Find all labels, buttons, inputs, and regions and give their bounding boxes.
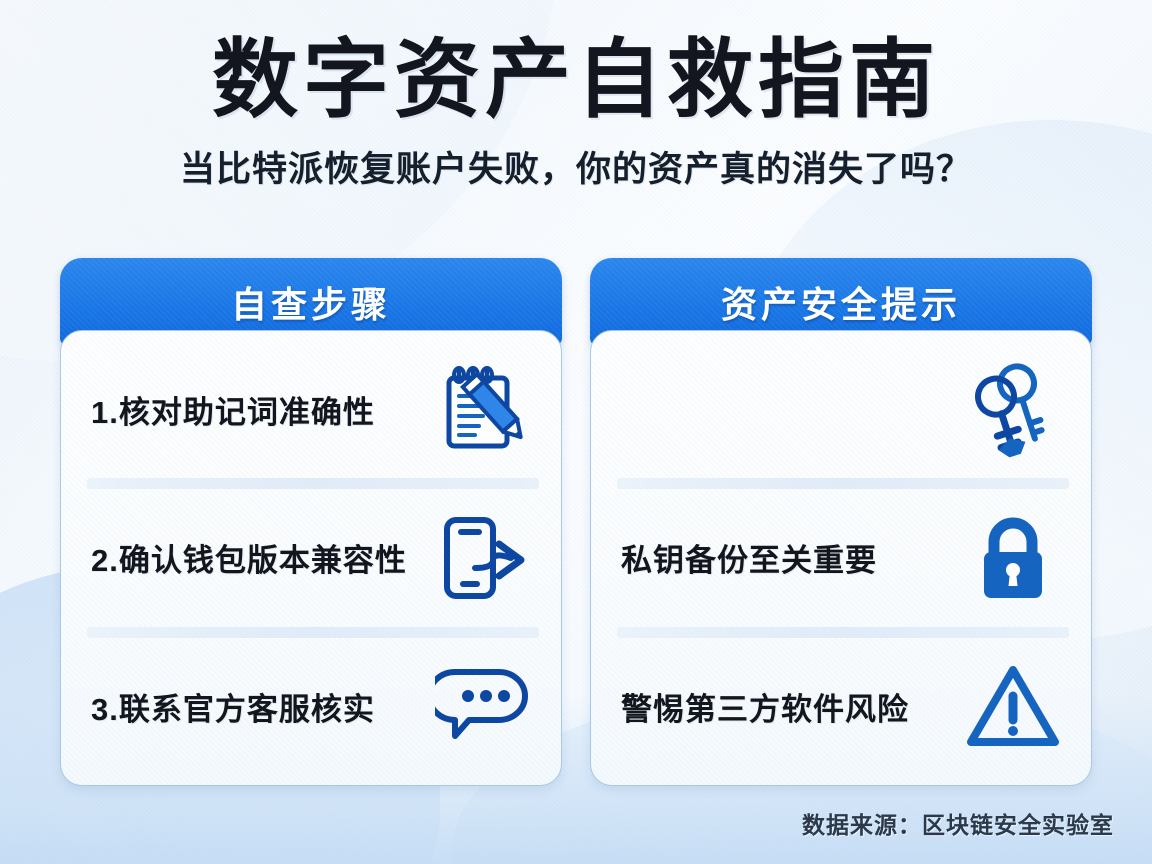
list-item-label: 私钥备份至关重要 (621, 535, 877, 580)
list-item[interactable]: 警惕第三方软件风险 (621, 638, 1065, 775)
card-title-self-check-steps: 自查步骤 (231, 276, 391, 328)
row-divider (617, 627, 1069, 638)
chat-bubble-icon (431, 654, 535, 758)
list-item[interactable]: 2.确认钱包版本兼容性 (91, 489, 535, 626)
page-title: 数字资产自救指南 (0, 34, 1152, 127)
list-item[interactable]: 私钥备份至关重要 (621, 489, 1065, 626)
list-item-label: 2.确认钱包版本兼容性 (91, 535, 407, 580)
keys-icon (961, 358, 1065, 462)
warning-triangle-icon (961, 654, 1065, 758)
lock-icon (961, 506, 1065, 610)
row-divider (87, 478, 539, 489)
list-item-label: 警惕第三方软件风险 (621, 684, 909, 729)
page-subtitle: 当比特派恢复账户失败，你的资产真的消失了吗？ (0, 141, 1152, 192)
list-item[interactable]: 3.联系官方客服核实 (91, 638, 535, 775)
data-source-note: 数据来源：区块链安全实验室 (802, 806, 1114, 840)
card-asset-security-tips: 资产安全提示 (590, 258, 1092, 786)
list-item[interactable] (621, 341, 1065, 478)
page-header: 数字资产自救指南 当比特派恢复账户失败，你的资产真的消失了吗？ (0, 34, 1152, 192)
row-divider (87, 627, 539, 638)
card-self-check-steps: 自查步骤 1.核对助记词准确性 (60, 258, 562, 786)
list-item[interactable]: 1.核对助记词准确性 (91, 341, 535, 478)
card-body-asset-security-tips: 私钥备份至关重要 警惕第三方软件风险 (590, 330, 1092, 786)
phone-transfer-icon (431, 506, 535, 610)
card-title-asset-security-tips: 资产安全提示 (721, 276, 961, 328)
row-divider (617, 478, 1069, 489)
list-item-label: 3.联系官方客服核实 (91, 684, 375, 729)
list-item-label: 1.核对助记词准确性 (91, 387, 375, 432)
card-body-self-check-steps: 1.核对助记词准确性 (60, 330, 562, 786)
notepad-pencil-icon (431, 358, 535, 462)
